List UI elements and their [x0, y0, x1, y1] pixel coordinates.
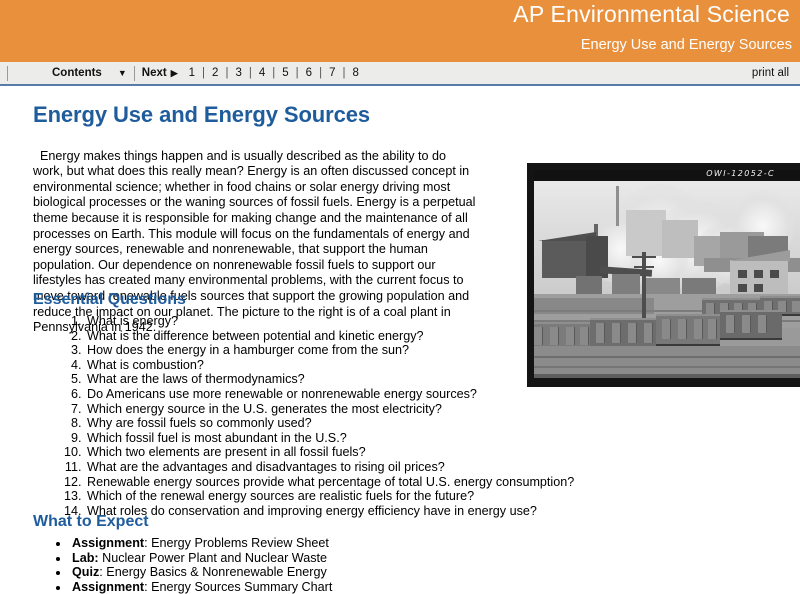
plant-building-left — [542, 240, 592, 278]
rail-car-panel — [792, 301, 800, 312]
page-separator: | — [196, 67, 211, 79]
rail-car-panel — [706, 303, 715, 314]
photo-negative-number: OWI-12052-C — [706, 170, 775, 178]
window — [770, 270, 779, 278]
what-to-expect-list: Assignment: Energy Problems Review Sheet… — [0, 536, 332, 594]
coal-rail-car — [656, 314, 720, 346]
page-link-7[interactable]: 7 — [328, 67, 336, 79]
shed — [612, 274, 640, 296]
list-item: What is the difference between potential… — [85, 329, 574, 344]
header-banner: AP Environmental Science Energy Use and … — [0, 0, 800, 62]
arrow-right-icon: ▶ — [171, 68, 178, 79]
print-all-link[interactable]: print all — [752, 67, 789, 79]
list-item: Renewable energy sources provide what pe… — [85, 475, 574, 490]
page-separator: | — [219, 67, 234, 79]
coal-rail-car — [720, 310, 782, 340]
navigation-bar: Contents ▼ Next ▶ 1 | 2 | 3 | 4 | 5 | 6 … — [0, 62, 800, 86]
list-item: What is energy? — [85, 314, 574, 329]
list-item: Do Americans use more renewable or nonre… — [85, 387, 574, 402]
list-item: Lab: Nuclear Power Plant and Nuclear Was… — [70, 551, 332, 566]
contents-menu-button[interactable]: Contents ▼ — [52, 67, 127, 79]
item-detail: Nuclear Power Plant and Nuclear Waste — [99, 551, 327, 565]
list-item: What is combustion? — [85, 358, 574, 373]
module-subtitle: Energy Use and Energy Sources — [581, 37, 792, 53]
list-item: Why are fossil fuels so commonly used? — [85, 416, 574, 431]
rail-track — [534, 366, 800, 368]
list-item: Assignment: Energy Sources Summary Chart — [70, 580, 332, 594]
nav-divider — [7, 66, 8, 81]
rail-car-panel — [550, 327, 559, 345]
nav-divider — [134, 66, 135, 81]
item-type: Assignment — [72, 536, 144, 550]
photo-bottom-shadow — [534, 374, 800, 378]
what-to-expect-heading: What to Expect — [33, 513, 149, 531]
item-detail: Energy Sources Summary Chart — [148, 580, 333, 594]
rail-car-panel — [662, 319, 671, 339]
coal-plant-figure: OWI-12052-C — [527, 163, 800, 387]
page-link-6[interactable]: 6 — [305, 67, 313, 79]
page-separator: | — [266, 67, 281, 79]
chevron-down-icon: ▼ — [118, 68, 127, 78]
page-link-3[interactable]: 3 — [234, 67, 242, 79]
list-item: Which fossil fuel is most abundant in th… — [85, 431, 574, 446]
page-number-list: 1 | 2 | 3 | 4 | 5 | 6 | 7 | 8 — [188, 67, 360, 79]
item-detail: Energy Basics & Nonrenewable Energy — [103, 565, 327, 579]
window — [754, 270, 763, 278]
rail-car-panel — [694, 319, 703, 339]
content-area: Energy Use and Energy Sources Energy mak… — [0, 88, 800, 128]
list-item: Which of the renewal energy sources are … — [85, 489, 574, 504]
page-separator: | — [243, 67, 258, 79]
page-separator: | — [336, 67, 351, 79]
list-item: Which two elements are present in all fo… — [85, 445, 574, 460]
smokestack — [616, 186, 619, 226]
rail-car-panel — [612, 323, 621, 343]
rail-car-panel — [758, 315, 767, 333]
plant-house-right — [730, 260, 788, 298]
building-roof — [728, 250, 790, 261]
rail-track — [534, 356, 800, 358]
utility-pole-crossarm — [632, 256, 656, 258]
page-link-2[interactable]: 2 — [211, 67, 219, 79]
course-title: AP Environmental Science — [513, 1, 790, 28]
essential-questions-list: What is energy? What is the difference b… — [0, 314, 574, 518]
rail-car-panel — [726, 315, 735, 333]
page-link-1[interactable]: 1 — [188, 67, 196, 79]
list-item: What roles do conservation and improving… — [85, 504, 574, 519]
next-page-button[interactable]: Next ▶ — [142, 67, 178, 79]
item-detail: Energy Problems Review Sheet — [148, 536, 329, 550]
shed — [576, 276, 602, 294]
window — [738, 270, 747, 278]
list-item: Which energy source in the U.S. generate… — [85, 402, 574, 417]
rail-car-panel — [708, 319, 717, 339]
rail-car-panel — [580, 327, 589, 345]
list-item: What are the laws of thermodynamics? — [85, 372, 574, 387]
shed — [682, 278, 716, 294]
list-item: How does the energy in a hamburger come … — [85, 343, 574, 358]
window — [754, 284, 763, 292]
rail-car-panel — [566, 327, 575, 345]
list-item: What are the advantages and disadvantage… — [85, 460, 574, 475]
window — [738, 284, 747, 292]
rail-car-panel — [628, 323, 637, 343]
page-link-4[interactable]: 4 — [258, 67, 266, 79]
page-separator: | — [313, 67, 328, 79]
utility-pole-crossarm — [634, 266, 654, 268]
contents-label: Contents — [52, 67, 102, 79]
rail-car-panel — [644, 323, 653, 343]
plant-structure — [626, 210, 666, 256]
page-separator: | — [290, 67, 305, 79]
rail-car-panel — [596, 323, 605, 343]
page-link-5[interactable]: 5 — [281, 67, 289, 79]
page-title: Energy Use and Energy Sources — [33, 102, 800, 128]
plant-structure — [662, 220, 698, 258]
next-label: Next — [142, 67, 167, 79]
rail-car-panel — [534, 327, 543, 345]
rail-car-panel — [742, 315, 751, 333]
coal-plant-photo: OWI-12052-C — [534, 170, 800, 378]
list-item: Assignment: Energy Problems Review Sheet — [70, 536, 332, 551]
list-item: Quiz: Energy Basics & Nonrenewable Energ… — [70, 565, 332, 580]
item-type: Assignment — [72, 580, 144, 594]
item-type: Lab: — [72, 551, 99, 565]
rail-car-panel — [678, 319, 687, 339]
essential-questions-heading: Essential Questions — [33, 291, 186, 309]
page-link-8[interactable]: 8 — [351, 67, 359, 79]
item-type: Quiz — [72, 565, 99, 579]
